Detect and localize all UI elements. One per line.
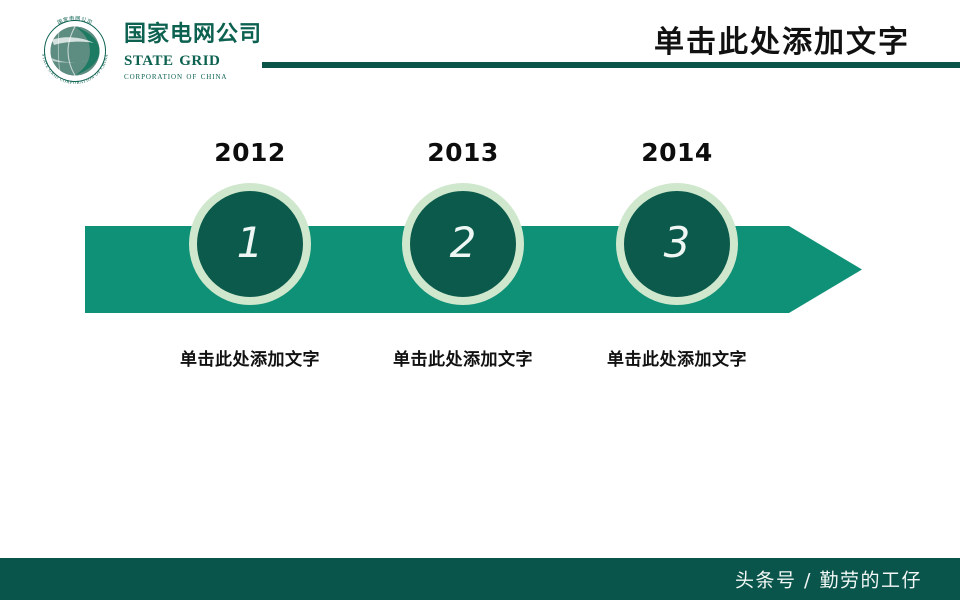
timeline-graphic: 2012 1 单击此处添加文字 2013 2 单击此处添加文字 2014 3 单… [0,140,960,390]
header-divider [262,62,960,68]
timeline-year-label: 2014 [572,140,782,170]
brand-name-cn: 国家电网公司 [124,23,262,48]
svg-text:国家电网公司: 国家电网公司 [56,14,94,27]
brand-logo-block: 国家电网公司 STATE GRID CORPORATION OF CHINA 国… [34,10,262,92]
timeline-node-2[interactable]: 2013 2 单击此处添加文字 [358,140,568,170]
timeline-circle-1[interactable]: 1 [189,183,311,305]
timeline-caption[interactable]: 单击此处添加文字 [393,345,533,370]
page-title: 单击此处添加文字 [654,17,910,61]
timeline-year-label: 2012 [145,140,355,170]
timeline-node-3[interactable]: 2014 3 单击此处添加文字 [572,140,782,170]
footer-credit-text: 头条号 / 勤劳的工仔 [735,566,922,593]
timeline-circle-3[interactable]: 3 [616,183,738,305]
brand-wordmark: 国家电网公司 State Grid Corporation of China [124,19,262,83]
timeline-caption[interactable]: 单击此处添加文字 [180,345,320,370]
timeline-caption[interactable]: 单击此处添加文字 [607,345,747,370]
timeline-step-number: 1 [237,222,264,264]
timeline-node-1[interactable]: 2012 1 单击此处添加文字 [145,140,355,170]
slide-canvas: 国家电网公司 STATE GRID CORPORATION OF CHINA 国… [0,0,960,600]
footer-bar: 头条号 / 勤劳的工仔 [0,558,960,600]
timeline-year-label: 2013 [358,140,568,170]
state-grid-globe-icon: 国家电网公司 STATE GRID CORPORATION OF CHINA [34,10,116,92]
timeline-step-number: 2 [450,222,477,264]
brand-name-en: State Grid [124,47,262,69]
brand-subtitle-en: Corporation of China [124,70,262,84]
timeline-circle-2[interactable]: 2 [402,183,524,305]
timeline-step-number: 3 [664,222,691,264]
